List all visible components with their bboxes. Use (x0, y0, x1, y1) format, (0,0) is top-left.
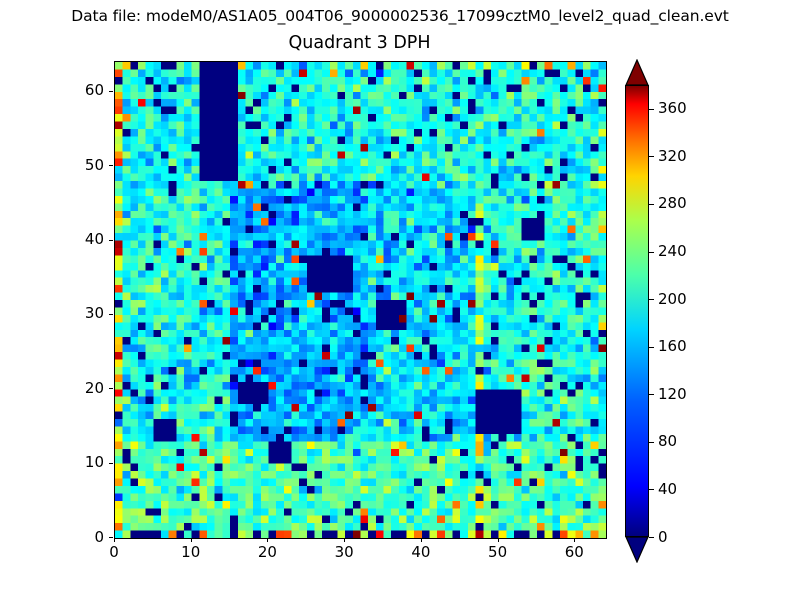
plot-title: Quadrant 3 DPH (114, 33, 605, 54)
y-tick-mark (109, 388, 113, 389)
x-tick-label: 60 (544, 544, 604, 561)
colorbar-tick-label: 360 (658, 100, 687, 117)
x-tick-label: 50 (468, 544, 528, 561)
y-tick-mark (109, 537, 113, 538)
x-tick-mark (498, 538, 499, 542)
colorbar-tick-mark (649, 394, 654, 395)
y-tick-label: 40 (44, 231, 104, 248)
y-tick-label: 10 (44, 454, 104, 471)
x-tick-mark (191, 538, 192, 542)
colorbar-tick-label: 80 (658, 433, 677, 450)
detector-heatmap-image[interactable] (115, 62, 606, 538)
colorbar-over-arrow-icon (625, 59, 649, 86)
colorbar-tick-label: 120 (658, 386, 687, 403)
y-tick-label: 20 (44, 380, 104, 397)
y-tick-label: 50 (44, 157, 104, 174)
x-tick-label: 40 (391, 544, 451, 561)
x-tick-label: 30 (314, 544, 374, 561)
y-tick-mark (109, 165, 113, 166)
colorbar[interactable]: 04080120160200240280320360 (625, 61, 649, 537)
colorbar-tick-label: 280 (658, 195, 687, 212)
x-tick-label: 0 (84, 544, 144, 561)
colorbar-tick-label: 240 (658, 243, 687, 260)
colorbar-tick-mark (649, 347, 654, 348)
colorbar-tick-mark (649, 299, 654, 300)
colorbar-tick-mark (649, 537, 654, 538)
data-file-suptitle: Data file: modeM0/AS1A05_004T06_90000025… (0, 7, 800, 25)
x-tick-label: 10 (161, 544, 221, 561)
y-tick-mark (109, 314, 113, 315)
x-tick-mark (344, 538, 345, 542)
colorbar-tick-label: 0 (658, 529, 668, 546)
colorbar-tick-label: 40 (658, 481, 677, 498)
x-tick-mark (574, 538, 575, 542)
colorbar-under-arrow-icon (625, 536, 649, 563)
colorbar-tick-mark (649, 156, 654, 157)
colorbar-tick-mark (649, 204, 654, 205)
y-tick-label: 0 (44, 529, 104, 546)
y-tick-mark (109, 91, 113, 92)
colorbar-tick-label: 160 (658, 338, 687, 355)
colorbar-gradient (625, 85, 649, 537)
x-tick-label: 20 (237, 544, 297, 561)
y-tick-label: 60 (44, 82, 104, 99)
colorbar-tick-label: 200 (658, 291, 687, 308)
x-tick-mark (114, 538, 115, 542)
figure-canvas: Data file: modeM0/AS1A05_004T06_90000025… (0, 0, 800, 600)
colorbar-tick-mark (649, 442, 654, 443)
y-tick-mark (109, 463, 113, 464)
colorbar-tick-mark (649, 109, 654, 110)
colorbar-tick-mark (649, 252, 654, 253)
y-tick-mark (109, 240, 113, 241)
x-tick-mark (267, 538, 268, 542)
x-tick-mark (421, 538, 422, 542)
colorbar-tick-label: 320 (658, 148, 687, 165)
y-tick-label: 30 (44, 305, 104, 322)
heatmap-axes[interactable] (114, 61, 607, 539)
colorbar-tick-mark (649, 489, 654, 490)
